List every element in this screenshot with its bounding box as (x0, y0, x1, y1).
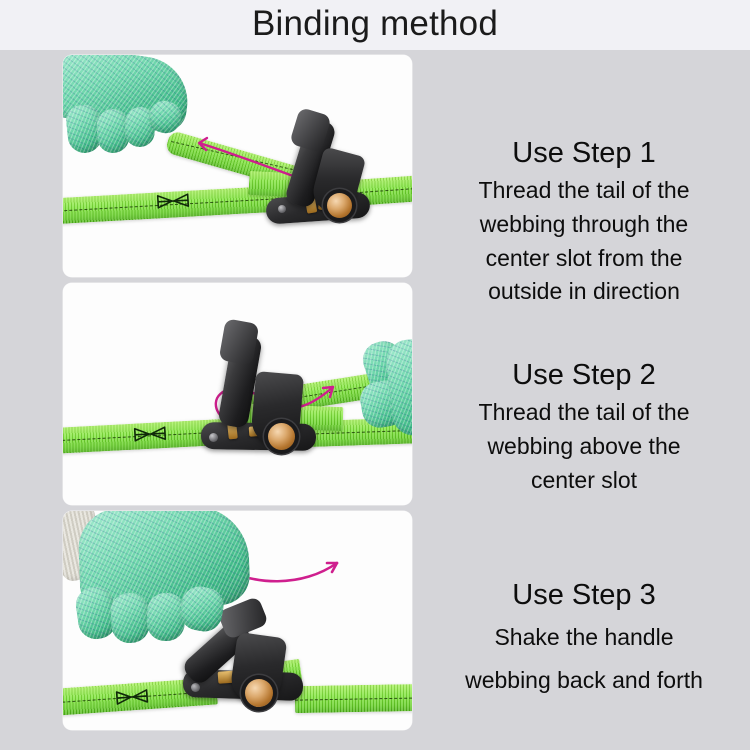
ratchet-frame-rivet (209, 433, 218, 442)
step-2-text-block: Use Step 2 Thread the tail of the webbin… (418, 358, 750, 497)
step-1-photo-panel[interactable] (63, 55, 412, 277)
step-1-line-1: Thread the tail of the (418, 174, 750, 208)
ratchet-frame-rivet (278, 205, 286, 213)
ratchet-drum (268, 423, 295, 450)
step-3-line-1: Shake the handle (418, 616, 750, 659)
step-2-photo (63, 283, 412, 505)
step-1-line-2: webbing through the (418, 208, 750, 242)
step-3-photo-panel[interactable] (63, 511, 412, 730)
step-1-photo (63, 55, 412, 277)
step-3-photo (63, 511, 412, 730)
knit-glove (63, 55, 221, 183)
step-1-line-4: outside in direction (418, 275, 750, 309)
step-1-heading: Use Step 1 (418, 136, 750, 171)
step-1-text-block: Use Step 1 Thread the tail of the webbin… (418, 136, 750, 309)
content-stage: Use Step 1 Thread the tail of the webbin… (0, 50, 750, 750)
step-3-text-block: Use Step 3 Shake the handle webbing back… (418, 578, 750, 702)
step-3-line-2: webbing back and forth (418, 659, 750, 702)
step-2-heading: Use Step 2 (418, 358, 750, 393)
step-2-line-1: Thread the tail of the (418, 396, 750, 430)
knit-glove (351, 345, 412, 450)
knit-glove (63, 511, 263, 687)
webbing-right-strap (295, 684, 412, 713)
step-3-heading: Use Step 3 (418, 578, 750, 613)
step-2-line-2: webbing above the (418, 430, 750, 464)
step-2-photo-panel[interactable] (63, 283, 412, 505)
page-title: Binding method (0, 0, 750, 50)
step-2-line-3: center slot (418, 464, 750, 498)
webbing-bowtie-marking (133, 425, 168, 443)
ratchet-drum (327, 193, 352, 218)
webbing-bowtie-marking (114, 688, 149, 706)
step-1-line-3: center slot from the (418, 242, 750, 276)
glove-finger-2 (110, 592, 151, 644)
